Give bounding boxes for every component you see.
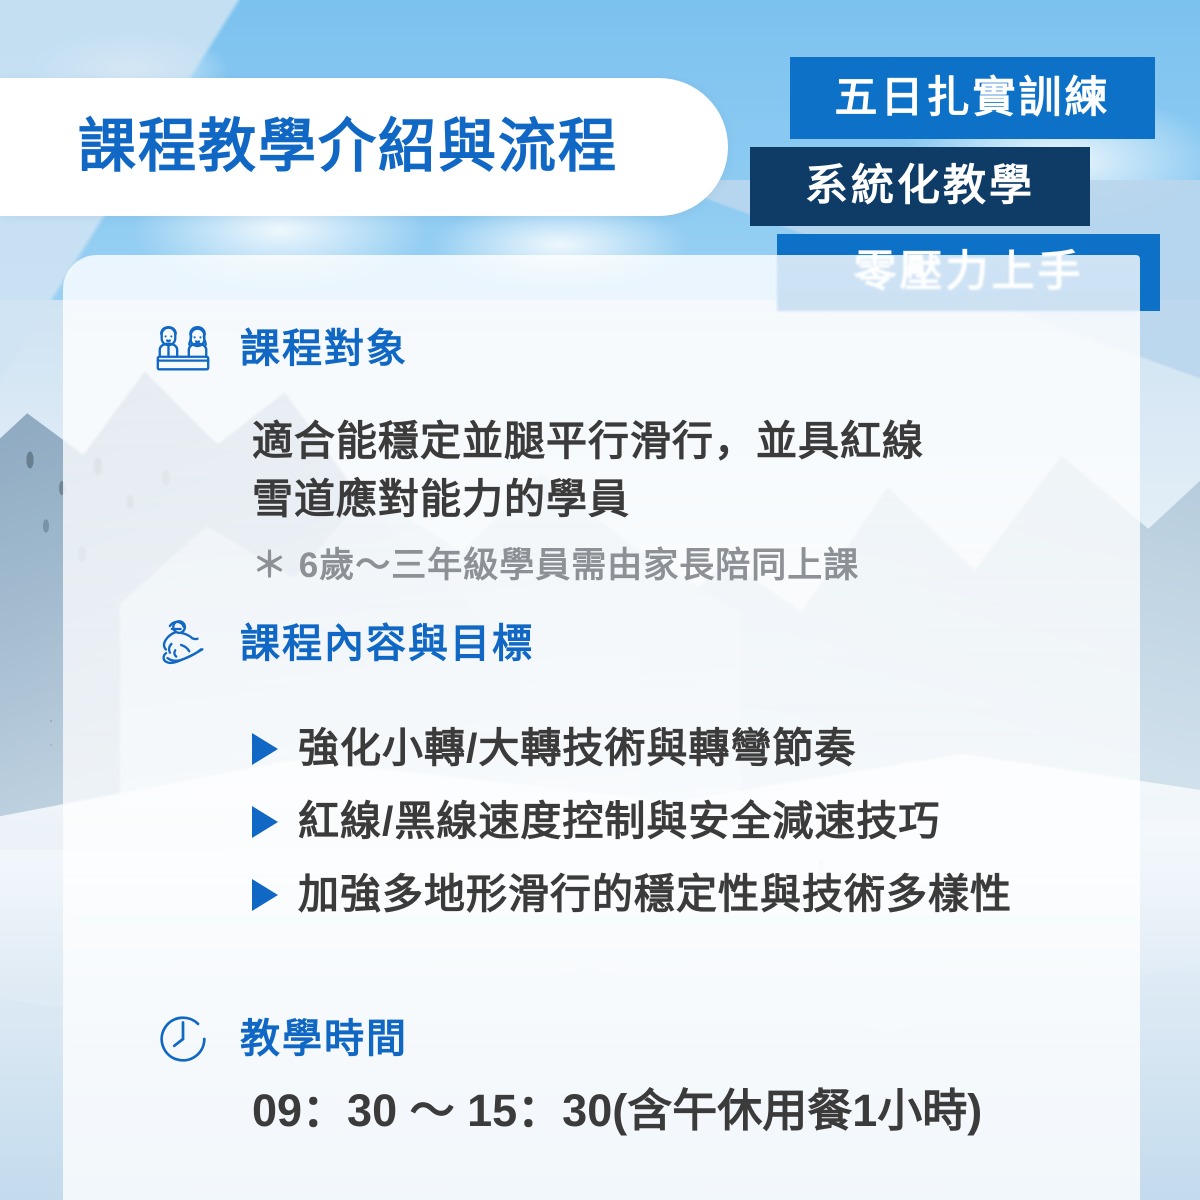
- section-head-content: 課程內容與目標: [152, 613, 534, 675]
- audience-body-line-2: 雪道應對能力的學員: [252, 470, 1062, 528]
- badge-five-day-training: 五日扎實訓練: [790, 57, 1155, 139]
- poster-canvas: 課程教學介紹與流程 五日扎實訓練 系統化教學 零壓力上手 課程對象 適合能穩定並…: [0, 0, 1200, 1200]
- triangle-bullet-icon: [252, 879, 278, 911]
- bullet-label: 紅線/黑線速度控制與安全減速技巧: [298, 801, 940, 842]
- page-title: 課程教學介紹與流程: [78, 118, 618, 176]
- audience-note: ＊ 6歲～三年級學員需由家長陪同上課: [252, 548, 859, 583]
- content-bullet-list: 強化小轉/大轉技術與轉彎節奏 紅線/黑線速度控制與安全減速技巧 加強多地形滑行的…: [252, 728, 1132, 947]
- list-item: 紅線/黑線速度控制與安全減速技巧: [252, 801, 1132, 842]
- list-item: 強化小轉/大轉技術與轉彎節奏: [252, 728, 1132, 769]
- badge-systematic-teaching: 系統化教學: [750, 147, 1090, 226]
- section-title-audience: 課程對象: [240, 329, 408, 369]
- audience-body-line-1: 適合能穩定並腿平行滑行，並具紅線: [252, 412, 1062, 470]
- bullet-label: 加強多地形滑行的穩定性與技術多樣性: [298, 874, 1012, 915]
- schedule-time-value: 09：30 ～ 15：30(含午休用餐1小時): [252, 1088, 982, 1133]
- bullet-label: 強化小轉/大轉技術與轉彎節奏: [298, 728, 856, 769]
- triangle-bullet-icon: [252, 733, 278, 765]
- section-title-schedule: 教學時間: [240, 1019, 408, 1059]
- section-head-audience: 課程對象: [152, 318, 408, 380]
- header-banner: 課程教學介紹與流程: [0, 78, 728, 216]
- snowboarder-icon: [152, 613, 214, 675]
- list-item: 加強多地形滑行的穩定性與技術多樣性: [252, 874, 1132, 915]
- triangle-bullet-icon: [252, 806, 278, 838]
- section-head-schedule: 教學時間: [152, 1008, 408, 1070]
- clock-icon: [152, 1008, 214, 1070]
- two-students-at-desk-icon: [152, 318, 214, 380]
- section-title-content: 課程內容與目標: [240, 624, 534, 664]
